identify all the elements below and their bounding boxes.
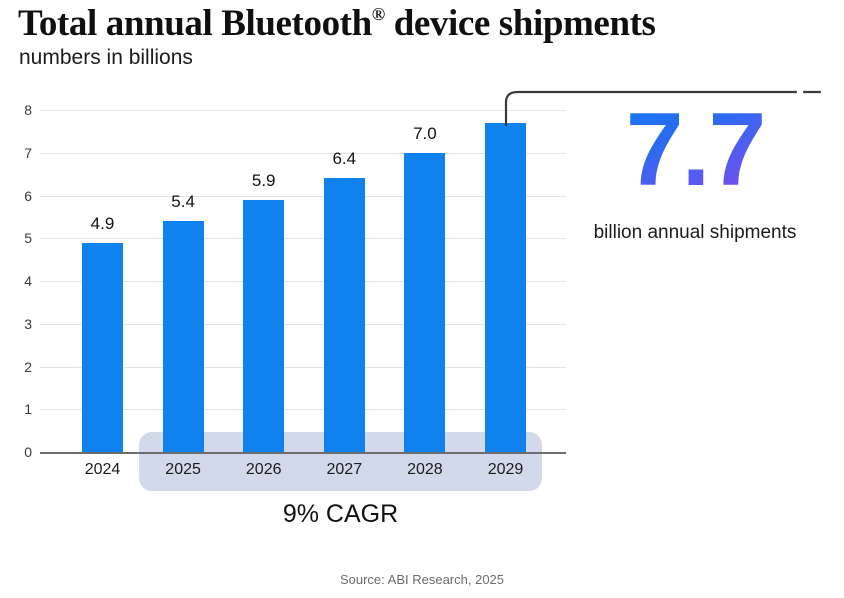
- y-axis-tick-label: 8: [8, 103, 32, 117]
- bar-value-label-2024: 4.9: [73, 215, 133, 232]
- x-axis-tick-label-2028: 2028: [390, 462, 460, 478]
- registered-trademark-icon: ®: [372, 4, 385, 24]
- page-title: Total annual Bluetooth® device shipments: [18, 2, 656, 45]
- x-axis-tick-label-2024: 2024: [68, 462, 138, 478]
- callout-caption: billion annual shipments: [560, 222, 830, 244]
- x-axis-tick-label-2026: 2026: [229, 462, 299, 478]
- cagr-highlight-band: [139, 432, 542, 491]
- x-axis-line: [40, 452, 566, 454]
- source-note: Source: ABI Research, 2025: [0, 572, 844, 587]
- title-text-tail: device shipments: [385, 3, 656, 44]
- gridline: [40, 281, 566, 282]
- bar-2026[interactable]: [243, 200, 284, 452]
- gridline: [40, 238, 566, 239]
- bar-2027[interactable]: [324, 178, 365, 452]
- gridline: [40, 324, 566, 325]
- gridline: [40, 196, 566, 197]
- bar-2028[interactable]: [404, 153, 445, 452]
- gridline: [40, 367, 566, 368]
- cagr-label: 9% CAGR: [139, 500, 542, 529]
- y-axis-tick-label: 2: [8, 360, 32, 374]
- chart-canvas: Total annual Bluetooth® device shipments…: [0, 0, 844, 598]
- gridline: [40, 409, 566, 410]
- x-axis-tick-label-2027: 2027: [309, 462, 379, 478]
- y-axis-tick-label: 7: [8, 146, 32, 160]
- bar-value-label-2027: 6.4: [314, 150, 374, 167]
- bar-value-label-2028: 7.0: [395, 125, 455, 142]
- callout-value: 7.7: [578, 96, 812, 205]
- y-axis-tick-label: 4: [8, 274, 32, 288]
- y-axis-tick-label: 1: [8, 402, 32, 416]
- title-text: Total annual Bluetooth: [18, 3, 372, 44]
- y-axis-tick-label: 6: [8, 189, 32, 203]
- x-axis-tick-label-2025: 2025: [148, 462, 218, 478]
- gridline: [40, 153, 566, 154]
- y-axis-tick-label: 0: [8, 445, 32, 459]
- chart-subtitle: numbers in billions: [19, 46, 193, 70]
- bar-value-label-2025: 5.4: [153, 193, 213, 210]
- bar-2024[interactable]: [82, 243, 123, 452]
- y-axis-tick-label: 5: [8, 231, 32, 245]
- x-axis-tick-label-2029: 2029: [471, 462, 541, 478]
- gridline: [40, 110, 566, 111]
- bar-2029[interactable]: [485, 123, 526, 452]
- bar-value-label-2026: 5.9: [234, 172, 294, 189]
- y-axis-tick-label: 3: [8, 317, 32, 331]
- bar-2025[interactable]: [163, 221, 204, 452]
